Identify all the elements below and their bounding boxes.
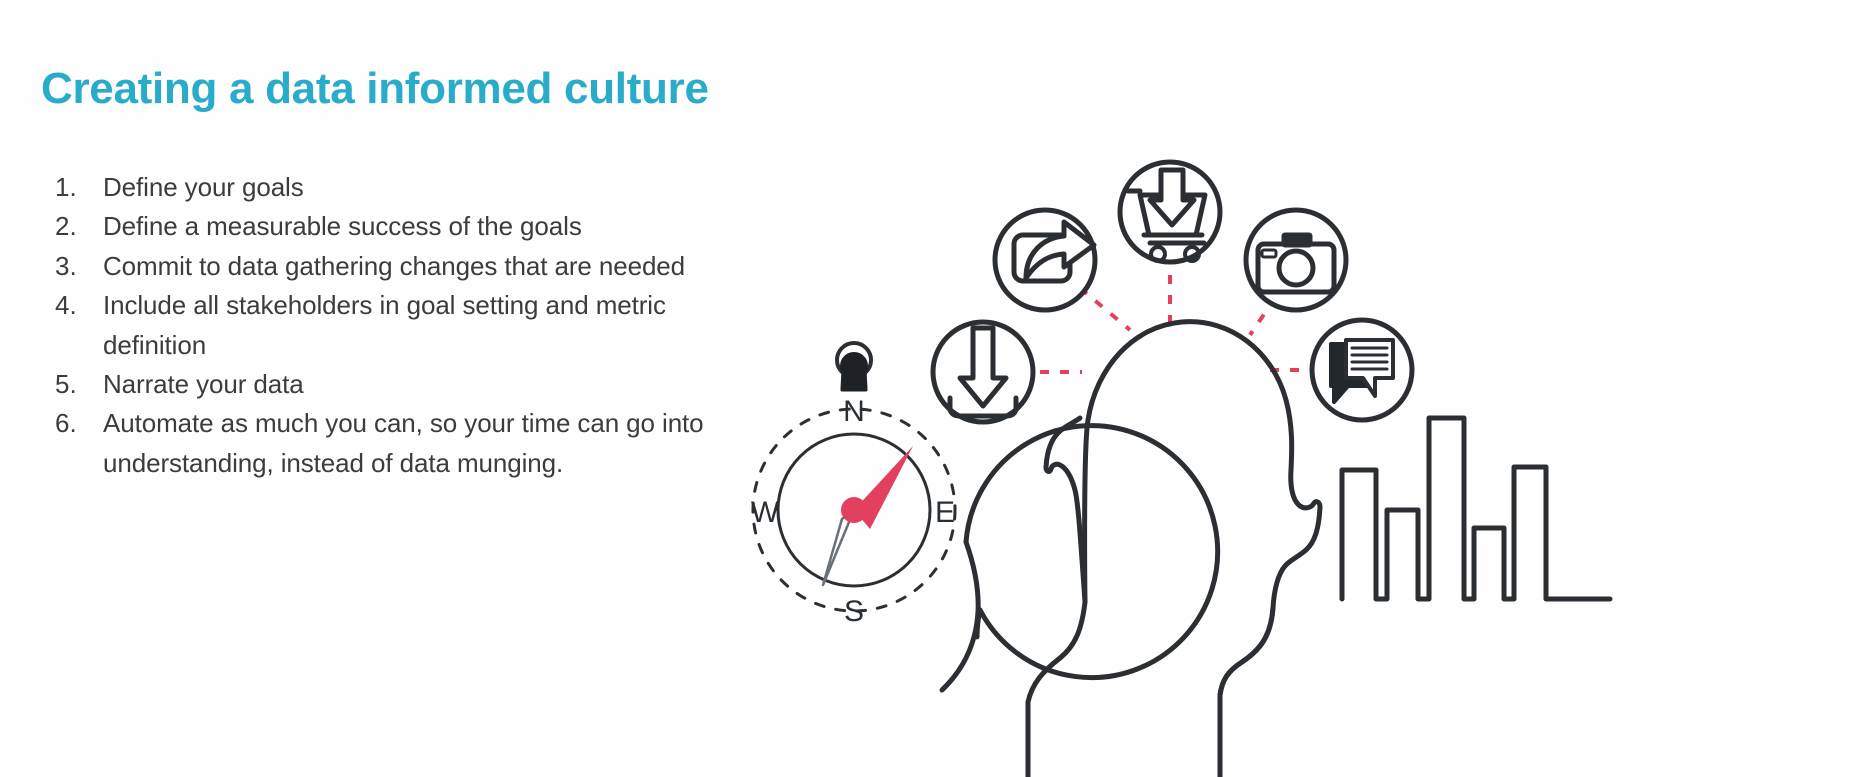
- add-to-cart-icon-badge: [1120, 162, 1220, 262]
- share-icon-badge: [995, 210, 1095, 310]
- compass-label-north: N: [843, 395, 865, 428]
- list-item-number: 4.: [55, 286, 103, 325]
- list-item-number: 3.: [55, 247, 103, 286]
- list-item-text: Define a measurable success of the goals: [103, 207, 582, 246]
- camera-icon-top: [1283, 234, 1311, 246]
- connector-share-to-head: [1080, 288, 1130, 330]
- compass-label-west: W: [751, 496, 780, 529]
- list-item-text: Commit to data gathering changes that ar…: [103, 247, 685, 286]
- compass-label-east: E: [935, 496, 955, 529]
- list-item-text: Include all stakeholders in goal setting…: [103, 286, 705, 365]
- list-item: 6. Automate as much you can, so your tim…: [55, 404, 705, 483]
- list-item-text: Define your goals: [103, 168, 304, 207]
- steps-ordered-list: 1. Define your goals 2. Define a measura…: [55, 168, 705, 483]
- list-item: 1. Define your goals: [55, 168, 705, 207]
- download-icon-badge: [933, 322, 1033, 422]
- page-title: Creating a data informed culture: [41, 65, 709, 113]
- camera-icon-badge: [1246, 210, 1346, 310]
- list-item: 5. Narrate your data: [55, 365, 705, 404]
- list-item-number: 1.: [55, 168, 103, 207]
- compass-label-south: S: [844, 595, 864, 628]
- list-item-number: 6.: [55, 404, 103, 443]
- compass-pivot: [841, 497, 867, 523]
- list-item-number: 2.: [55, 207, 103, 246]
- list-item-number: 5.: [55, 365, 103, 404]
- data-informed-culture-illustration: N E S W: [730, 150, 1865, 777]
- bar-chart: [1342, 418, 1610, 599]
- slide-canvas: Creating a data informed culture 1. Defi…: [0, 0, 1865, 777]
- list-item: 3. Commit to data gathering changes that…: [55, 247, 705, 286]
- list-item-text: Automate as much you can, so your time c…: [103, 404, 705, 483]
- compass-outer-ring: [966, 426, 1218, 678]
- camera-icon-circle: [1246, 210, 1346, 310]
- head-silhouette: [1028, 322, 1320, 777]
- chat-icon-badge: [1312, 320, 1412, 420]
- list-item: 4. Include all stakeholders in goal sett…: [55, 286, 705, 365]
- bar-chart-outline: [1342, 418, 1610, 599]
- list-item: 2. Define a measurable success of the go…: [55, 207, 705, 246]
- list-item-text: Narrate your data: [103, 365, 304, 404]
